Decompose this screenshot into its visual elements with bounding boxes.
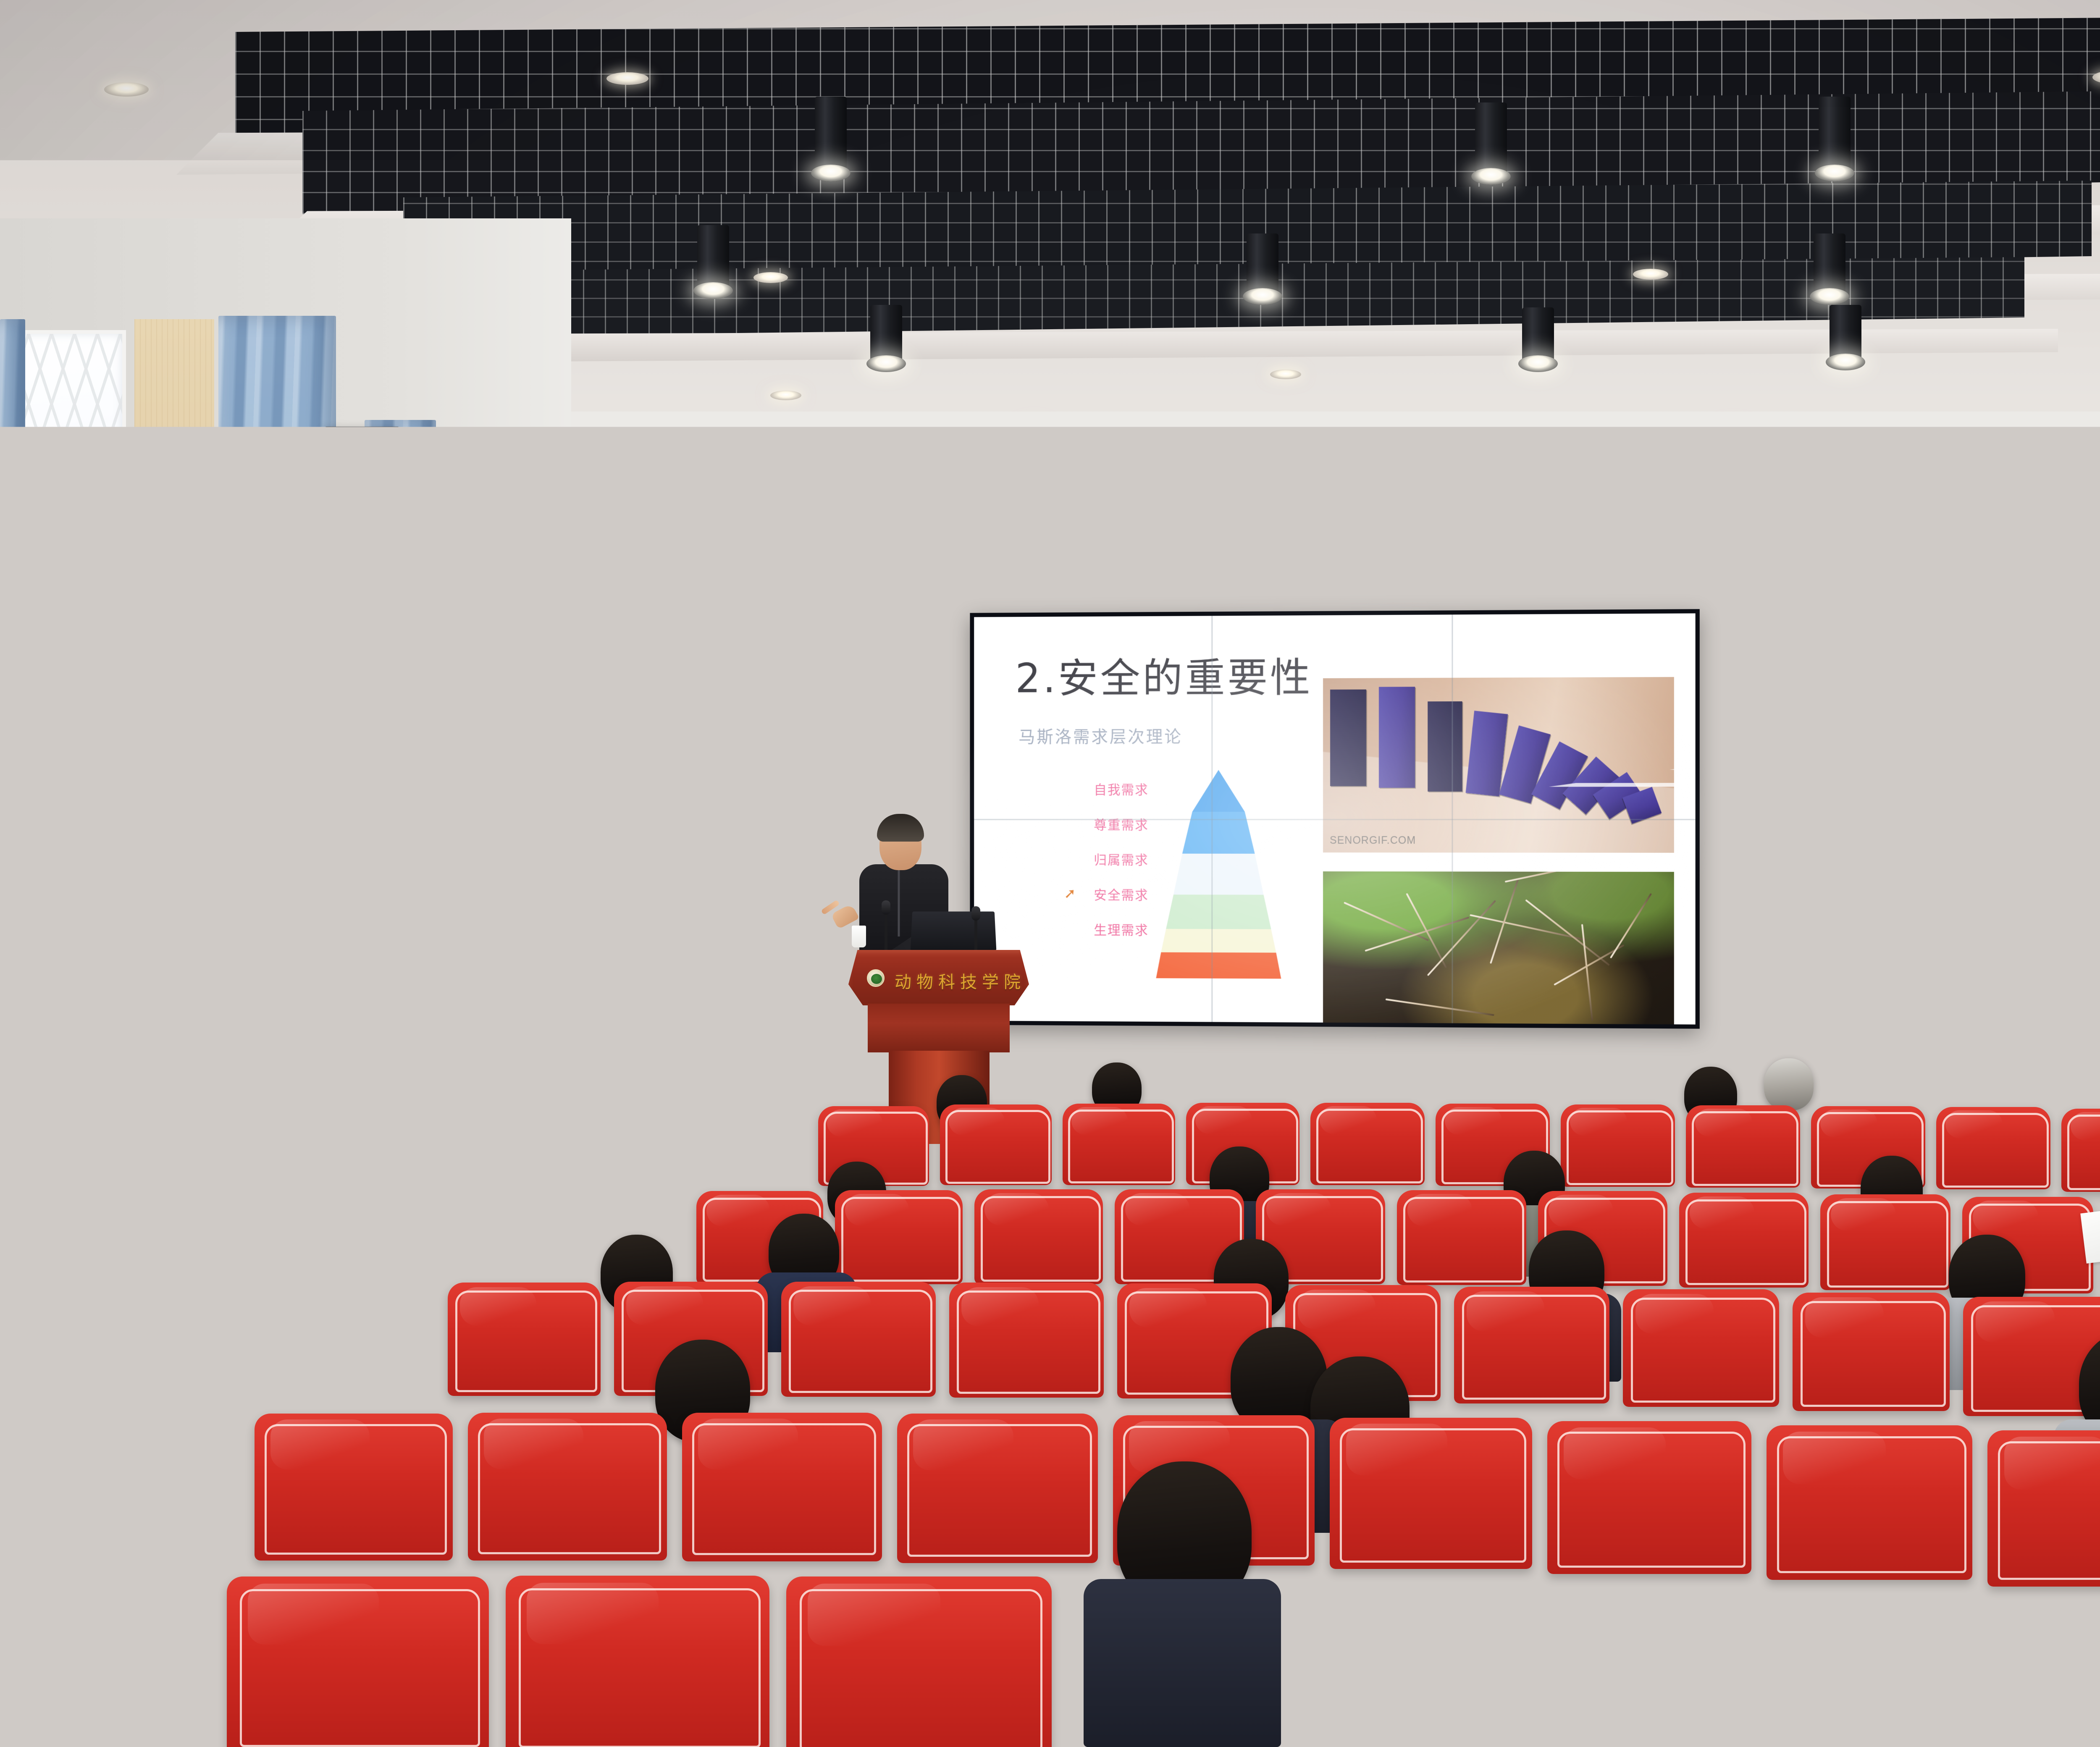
seat[interactable]: [1793, 1293, 1950, 1411]
seat[interactable]: [1302, 1579, 1571, 1747]
pendant-spotlight: [815, 97, 847, 173]
seat[interactable]: [1820, 1194, 1950, 1290]
recessed-downlight: [1633, 269, 1668, 280]
door-handle[interactable]: [1830, 1047, 1836, 1071]
window-curtain: [0, 319, 25, 1058]
seat[interactable]: [1454, 1287, 1609, 1403]
seat[interactable]: [1877, 1591, 2100, 1747]
seat[interactable]: [1397, 1190, 1526, 1285]
recessed-downlight: [753, 272, 788, 283]
photo-watermark: SENORGIF.COM: [1330, 834, 1416, 847]
door[interactable]: [1814, 790, 1948, 1134]
seat[interactable]: [468, 1413, 667, 1561]
seat[interactable]: [1767, 1425, 1972, 1580]
wall-speaker: [324, 427, 400, 544]
pendant-spotlight: [1830, 305, 1861, 362]
need-label: 自我需求: [1094, 779, 1148, 798]
seat[interactable]: [227, 1576, 489, 1747]
recessed-downlight: [606, 72, 648, 85]
slide-subtitle: 马斯洛需求层次理论: [1018, 723, 1183, 748]
pendant-spotlight: [1814, 233, 1845, 296]
paper-cup: [852, 926, 866, 947]
jacket-zipper: [898, 869, 900, 936]
ac-energy-label: [785, 875, 798, 896]
seat[interactable]: [1330, 1418, 1532, 1569]
air-conditioner-unit: [702, 819, 828, 1096]
pyramid-layer-self-actualization-lower: [1156, 812, 1281, 854]
presentation-screen: 2.安全的重要性 马斯洛需求层次理论 自我需求 尊重需求 归属需求: [970, 609, 1699, 1028]
seat[interactable]: [118, 1285, 269, 1397]
college-emblem-icon: [867, 969, 885, 987]
pyramid-layer-safety: [1156, 929, 1281, 953]
ac-vent-panel: [727, 826, 822, 872]
projector-lens: [1281, 516, 1302, 537]
pyramid-layer-self-actualization: [1156, 770, 1281, 812]
window-curtain: [496, 483, 559, 1041]
recessed-downlight: [770, 391, 801, 400]
seat[interactable]: [1063, 1104, 1175, 1185]
recessed-downlight: [1270, 370, 1301, 379]
seat[interactable]: [1623, 1289, 1779, 1407]
seat[interactable]: [1987, 1430, 2100, 1587]
wall-wood-panel: [134, 319, 214, 1050]
window-mullion: [56, 575, 62, 1034]
seat[interactable]: [1310, 1103, 1425, 1185]
pyramid-layer-belonging: [1156, 894, 1281, 929]
speaker-mount-arm: [349, 542, 368, 578]
emergency-exit-sign: 🚶: [2052, 625, 2088, 653]
seat[interactable]: [949, 1283, 1104, 1398]
audience-head: [1764, 1058, 1814, 1110]
maslow-pyramid: [1156, 770, 1281, 971]
pendant-spotlight: [1247, 233, 1278, 296]
seat[interactable]: [786, 1576, 1052, 1747]
pyramid-layer-physiological: [1156, 952, 1281, 979]
seat[interactable]: [682, 1413, 882, 1561]
seat[interactable]: [1936, 1107, 2050, 1189]
presenter-hair: [877, 814, 924, 842]
pendant-spotlight: [1819, 97, 1851, 173]
screen-surface: 2.安全的重要性 马斯洛需求层次理论 自我需求 尊重需求 归属需求: [974, 613, 1695, 1024]
microphone: [885, 910, 887, 955]
seat[interactable]: [1679, 1193, 1809, 1288]
seat[interactable]: [781, 1282, 936, 1397]
seat[interactable]: [974, 1189, 1103, 1284]
seat[interactable]: [2061, 1109, 2100, 1192]
speaker-label: [335, 493, 365, 509]
seat[interactable]: [0, 1579, 210, 1747]
need-label: 安全需求: [1094, 884, 1148, 903]
need-label: 尊重需求: [1094, 814, 1148, 833]
seat[interactable]: [1561, 1104, 1675, 1187]
pendant-spotlight: [1522, 307, 1554, 364]
seat[interactable]: [448, 1283, 601, 1396]
lectern-body: [868, 1004, 1010, 1052]
audience-head: [1932, 1058, 1982, 1113]
lecture-hall-photo: 🚶 2.安全的重要性 马斯洛需求层次理论 自我需求: [0, 0, 2100, 1747]
ceiling-projector: [1275, 508, 1354, 544]
pointer-arrow-icon: ➚: [1064, 885, 1087, 902]
video-wall-seam: [974, 819, 1695, 820]
seat[interactable]: [255, 1414, 453, 1561]
seat[interactable]: [506, 1576, 769, 1747]
recessed-downlight: [104, 82, 149, 97]
ac-sticker: [764, 883, 780, 907]
pendant-spotlight: [697, 225, 729, 291]
window-curtain: [602, 521, 650, 1037]
pendant-spotlight: [870, 305, 902, 364]
power-outlet[interactable]: [1733, 1049, 1747, 1067]
paper-cup: [113, 1161, 134, 1188]
seat[interactable]: [940, 1104, 1052, 1185]
audience-torso: [1084, 1579, 1281, 1747]
presenter-laptop[interactable]: [911, 911, 997, 950]
door-arch-moulding: [1834, 829, 1927, 1061]
seat[interactable]: [697, 1109, 807, 1188]
seat[interactable]: [1547, 1421, 1751, 1574]
seat[interactable]: [1686, 1105, 1800, 1188]
pyramid-layer-esteem: [1156, 854, 1281, 895]
need-label: 生理需求: [1094, 919, 1148, 938]
slide-photo-thorns: [1323, 871, 1674, 1024]
seat[interactable]: [897, 1414, 1098, 1563]
window-curtain: [218, 316, 336, 1055]
slide-photo-dominoes: SENORGIF.COM: [1323, 677, 1674, 853]
lectern-org-name: 动物科技学院: [895, 968, 1021, 993]
microphone: [974, 915, 977, 956]
seat[interactable]: [835, 1190, 963, 1284]
running-man-icon: 🚶: [2059, 630, 2081, 648]
slide-title: 2.安全的重要性: [1015, 645, 1312, 704]
seat[interactable]: [1588, 1584, 1860, 1747]
need-label: 归属需求: [1094, 849, 1148, 868]
door-transom-window: [2028, 731, 2100, 806]
pendant-spotlight: [1475, 102, 1507, 176]
